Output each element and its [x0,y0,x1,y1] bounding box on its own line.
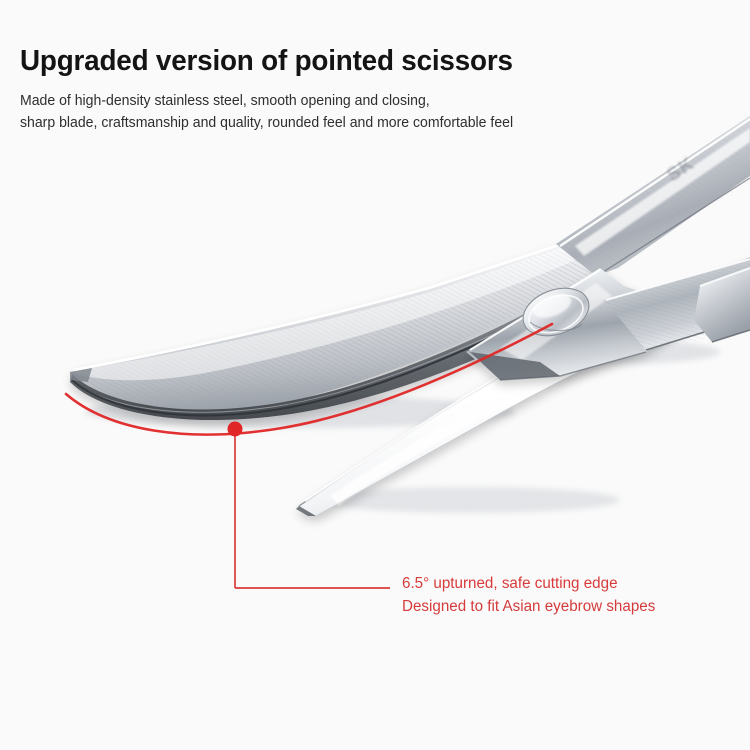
callout-dot [228,422,243,437]
annotation-line-2: Designed to fit Asian eyebrow shapes [402,595,655,618]
annotation-line-1: 6.5° upturned, safe cutting edge [402,572,655,595]
header-block: Upgraded version of pointed scissors Mad… [20,44,720,134]
product-detail-image: SK [0,0,750,750]
subtitle-block: Made of high-density stainless steel, sm… [20,90,699,134]
subtitle-line-2: sharp blade, craftsmanship and quality, … [20,112,699,134]
annotation-text-block: 6.5° upturned, safe cutting edge Designe… [402,572,655,618]
subtitle-line-1: Made of high-density stainless steel, sm… [20,90,699,112]
page-title: Upgraded version of pointed scissors [20,44,692,78]
